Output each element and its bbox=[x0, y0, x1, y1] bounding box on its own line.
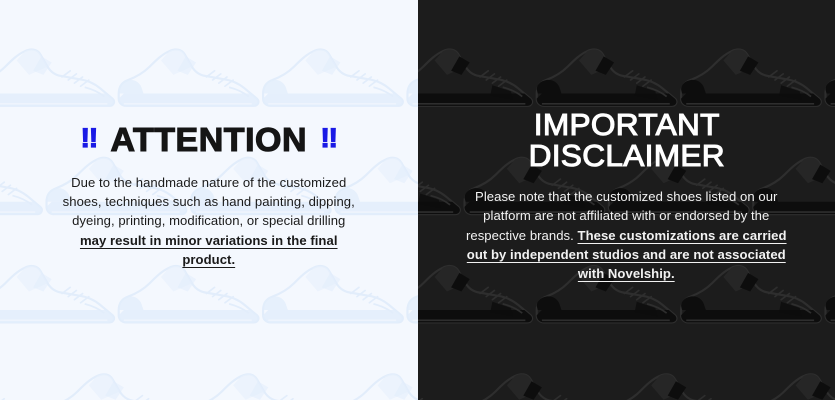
disclaimer-heading: IMPORTANT DISCLAIMER bbox=[454, 110, 798, 171]
attention-body-normal: Due to the handmade nature of the custom… bbox=[63, 175, 355, 229]
bang-left-icon: !! bbox=[81, 125, 97, 152]
disclaimer-content: IMPORTANT DISCLAIMER Please note that th… bbox=[418, 110, 835, 284]
dual-notice-banner: !! ATTENTION !! Due to the handmade natu… bbox=[0, 0, 835, 400]
attention-heading-text: ATTENTION bbox=[110, 123, 307, 156]
attention-body-emphasis: may result in minor variations in the fi… bbox=[80, 233, 338, 267]
attention-panel: !! ATTENTION !! Due to the handmade natu… bbox=[0, 0, 418, 400]
disclaimer-panel: IMPORTANT DISCLAIMER Please note that th… bbox=[418, 0, 835, 400]
attention-heading: !! ATTENTION !! bbox=[47, 123, 370, 156]
bang-right-icon: !! bbox=[320, 125, 336, 152]
disclaimer-body: Please note that the customized shoes li… bbox=[461, 187, 791, 284]
attention-body: Due to the handmade nature of the custom… bbox=[59, 173, 359, 270]
attention-content: !! ATTENTION !! Due to the handmade natu… bbox=[0, 123, 418, 270]
disclaimer-heading-line1: IMPORTANT bbox=[454, 110, 798, 140]
disclaimer-heading-line2: DISCLAIMER bbox=[454, 141, 798, 171]
